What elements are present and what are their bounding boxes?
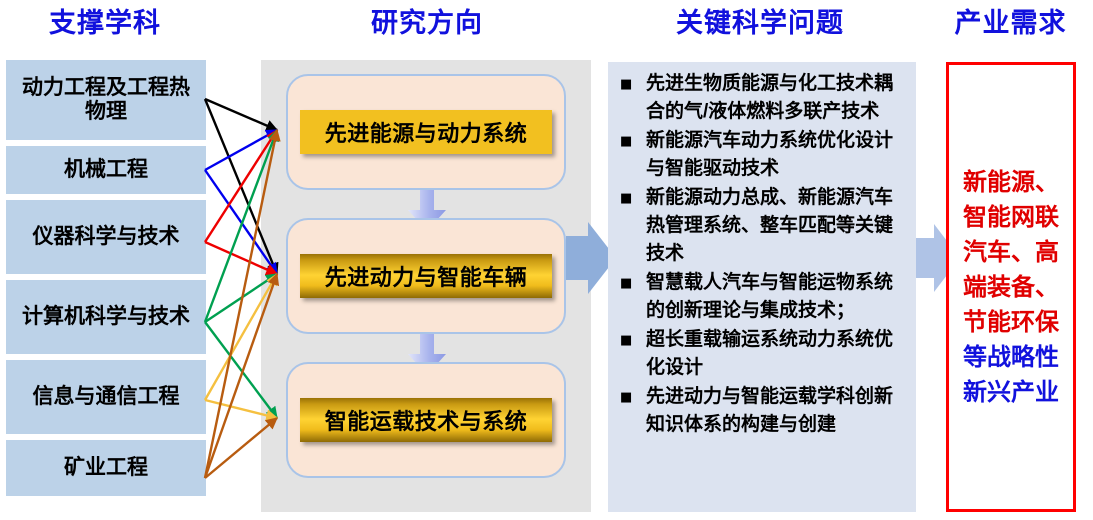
- industry-line: 端装备、: [963, 270, 1059, 305]
- bullet-square-icon: ■: [614, 326, 646, 355]
- diagram-canvas: 支撑学科 研究方向 关键科学问题 产业需求 动力工程及工程热物理 机械工程 仪器…: [0, 0, 1093, 520]
- key-question-item[interactable]: ■ 先进生物质能源与化工技术耦合的气/液体燃料多联产技术: [614, 70, 906, 126]
- industry-line: 新兴产业: [963, 375, 1059, 410]
- column-header-industry: 产业需求: [928, 10, 1093, 37]
- key-question-panel: ■ 先进生物质能源与化工技术耦合的气/液体燃料多联产技术 ■ 新能源汽车动力系统…: [608, 62, 916, 512]
- discipline-box-computer-science[interactable]: 计算机科学与技术: [6, 280, 206, 354]
- bullet-square-icon: ■: [614, 127, 646, 156]
- key-question-text: 新能源汽车动力系统优化设计与智能驱动技术: [646, 127, 906, 183]
- discipline-box-mining-engineering[interactable]: 矿业工程: [6, 440, 206, 496]
- industry-line: 节能环保: [963, 305, 1059, 340]
- bullet-square-icon: ■: [614, 70, 646, 99]
- direction-box-power-intelligent-vehicle[interactable]: 先进动力与智能车辆: [286, 218, 566, 334]
- key-question-item[interactable]: ■ 超长重载输运系统动力系统优化设计: [614, 326, 906, 382]
- direction-label-intelligent-transport: 智能运载技术与系统: [300, 398, 552, 442]
- discipline-column: 动力工程及工程热物理 机械工程 仪器科学与技术 计算机科学与技术 信息与通信工程…: [6, 60, 206, 512]
- key-question-text: 先进动力与智能运载学科创新知识体系的构建与创建: [646, 383, 906, 439]
- key-question-item[interactable]: ■ 智慧载人汽车与智能运物系统的创新理论与集成技术；: [614, 269, 906, 325]
- research-direction-panel: 先进能源与动力系统 先进动力与智能车辆: [261, 60, 591, 512]
- direction-box-intelligent-transport[interactable]: 智能运载技术与系统: [286, 362, 566, 478]
- key-question-item[interactable]: ■ 新能源汽车动力系统优化设计与智能驱动技术: [614, 127, 906, 183]
- discipline-box-instrument-science[interactable]: 仪器科学与技术: [6, 200, 206, 274]
- column-header-key-questions: 关键科学问题: [605, 10, 915, 37]
- bullet-square-icon: ■: [614, 383, 646, 412]
- industry-line: 新能源、: [963, 165, 1059, 200]
- bullet-square-icon: ■: [614, 269, 646, 298]
- direction-box-energy-power-system[interactable]: 先进能源与动力系统: [286, 74, 566, 190]
- bullet-square-icon: ■: [614, 184, 646, 213]
- key-question-text: 智慧载人汽车与智能运物系统的创新理论与集成技术；: [646, 269, 906, 325]
- discipline-box-mechanical-engineering[interactable]: 机械工程: [6, 146, 206, 194]
- industry-line: 汽车、高: [963, 235, 1059, 270]
- key-question-text: 先进生物质能源与化工技术耦合的气/液体燃料多联产技术: [646, 70, 906, 126]
- column-header-disciplines: 支撑学科: [0, 10, 210, 37]
- industry-line: 智能网联: [963, 200, 1059, 235]
- column-header-directions: 研究方向: [262, 10, 592, 37]
- key-question-item[interactable]: ■ 新能源动力总成、新能源汽车热管理系统、整车匹配等关键技术: [614, 184, 906, 268]
- industry-line: 等战略性: [963, 340, 1059, 375]
- direction-label-power-intelligent-vehicle: 先进动力与智能车辆: [300, 254, 552, 298]
- discipline-box-information-communication[interactable]: 信息与通信工程: [6, 360, 206, 434]
- direction-label-energy-power-system: 先进能源与动力系统: [300, 110, 552, 154]
- industry-demand-panel: 新能源、 智能网联 汽车、高 端装备、 节能环保 等战略性 新兴产业: [946, 62, 1076, 512]
- discipline-box-power-engineering[interactable]: 动力工程及工程热物理: [6, 60, 206, 140]
- key-question-item[interactable]: ■ 先进动力与智能运载学科创新知识体系的构建与创建: [614, 383, 906, 439]
- key-question-text: 超长重载输运系统动力系统优化设计: [646, 326, 906, 382]
- key-question-text: 新能源动力总成、新能源汽车热管理系统、整车匹配等关键技术: [646, 184, 906, 268]
